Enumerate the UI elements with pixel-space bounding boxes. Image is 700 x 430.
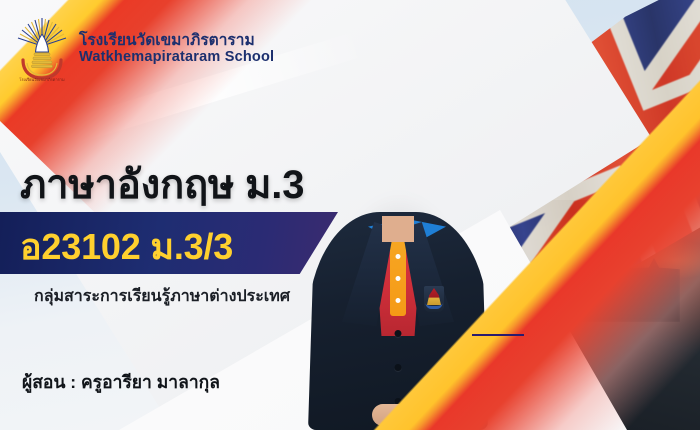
course-code-text: อ23102 ม.3/3 [20,218,233,275]
school-name-thai: โรงเรียนวัดเขมาภิรตาราม [79,33,274,49]
instructor-label: ผู้สอน : ครูอารียา มาลากุล [22,368,220,396]
badge-arc [426,303,443,309]
teacher-portrait [300,100,495,430]
course-title-slide: โรงเรียนวัดเขมาภิรตาราม โรงเรียนวัดเขมาภ… [0,0,700,430]
school-uniform-badge-icon [424,286,444,312]
blazer-button [395,364,402,371]
accent-rule [472,334,524,336]
blazer [308,212,488,430]
blazer-button [395,330,402,337]
tie-button [396,298,401,303]
department-label: กลุ่มสาระการเรียนรู้ภาษาต่างประเทศ [34,284,290,309]
tie-button [396,254,401,259]
brand-text: โรงเรียนวัดเขมาภิรตาราม Watkhemapiratara… [79,33,274,65]
school-name-english: Watkhemapirataram School [79,50,274,65]
tie-button [396,276,401,281]
thai-royal-crest-logo-icon: โรงเรียนวัดเขมาภิรตาราม [14,16,70,82]
svg-text:โรงเรียนวัดเขมาภิรตาราม: โรงเรียนวัดเขมาภิรตาราม [19,77,65,82]
school-brand: โรงเรียนวัดเขมาภิรตาราม โรงเรียนวัดเขมาภ… [14,16,274,82]
tie [390,240,406,316]
subject-title: ภาษาอังกฤษ ม.3 [20,152,304,216]
hands [372,404,424,426]
